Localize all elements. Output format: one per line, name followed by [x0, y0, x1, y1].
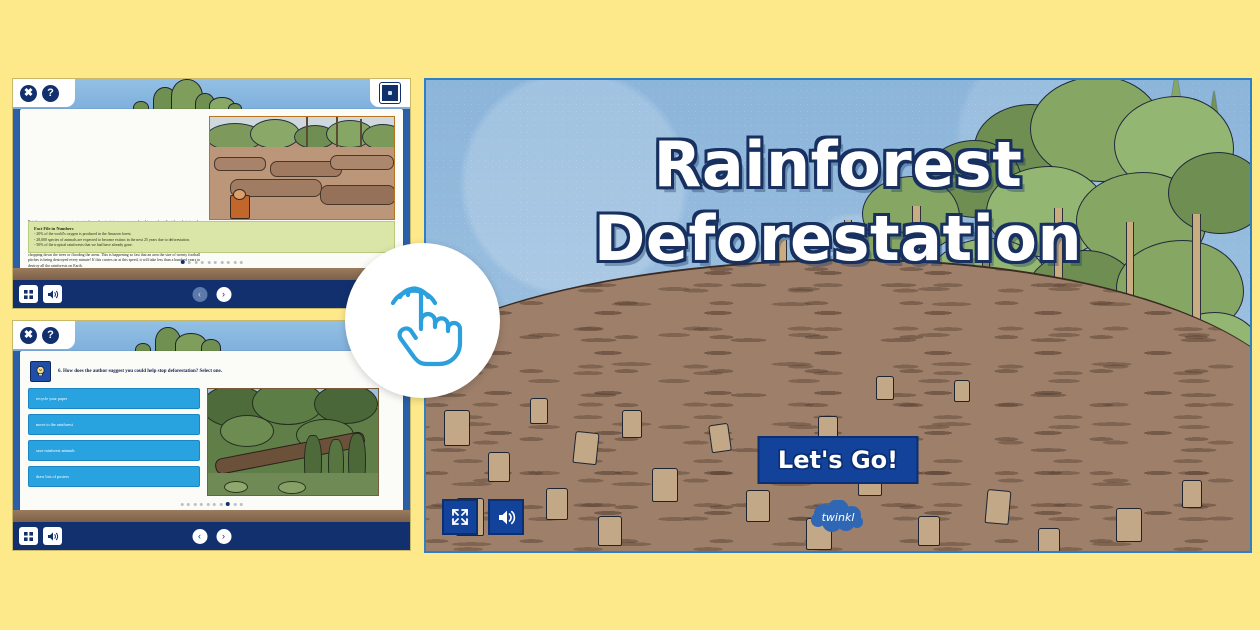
article-content: Rainforests are a very important part of… — [20, 109, 403, 269]
quiz-question-row: 6. How does the author suggest you could… — [30, 361, 395, 382]
article-pagination-dots[interactable] — [180, 260, 243, 264]
lets-go-button-label: Let's Go! — [778, 446, 898, 474]
quiz-pagination-dots[interactable] — [180, 502, 243, 506]
quiz-option[interactable]: move to the rainforest — [28, 414, 200, 435]
fact-file-box: Fact File in Numbers - 20% of the world'… — [28, 221, 395, 253]
twinkl-logo: twinkl — [806, 500, 870, 534]
deforestation-image — [209, 116, 395, 220]
fact-file-item: - 50% of the tropical rainforests that w… — [34, 243, 389, 248]
slide-settings-button[interactable] — [370, 79, 410, 107]
lets-go-button[interactable]: Let's Go! — [758, 436, 919, 484]
fact-file-title: Fact File in Numbers — [34, 226, 389, 231]
twinkl-wordmark: twinkl — [822, 511, 855, 524]
slide-ground-strip — [13, 268, 410, 280]
grid-view-icon[interactable] — [19, 285, 38, 303]
close-icon[interactable]: ✖ — [20, 85, 37, 102]
main-title-slide[interactable]: Rainforest Deforestation Let's Go! twink… — [424, 78, 1252, 553]
grid-view-icon[interactable] — [19, 527, 38, 545]
next-slide-button[interactable]: › — [216, 287, 231, 302]
screen: ✖ ? — [0, 0, 1260, 630]
tap-cursor-overlay — [345, 243, 500, 398]
help-icon[interactable]: ? — [42, 327, 59, 344]
help-icon[interactable]: ? — [42, 85, 59, 102]
quiz-content: 6. How does the author suggest you could… — [20, 351, 403, 511]
quiz-options-list: recycle your paper move to the rainfores… — [28, 388, 200, 496]
speaker-icon[interactable] — [43, 285, 62, 303]
lightbulb-icon — [30, 361, 51, 382]
quiz-option[interactable]: save rainforest animals — [28, 440, 200, 461]
quiz-slide-panel[interactable]: ✖ ? 6. How does the author suggest you c… — [12, 320, 411, 551]
prev-slide-button[interactable]: ‹ — [192, 529, 207, 544]
slide-window-controls: ✖ ? — [13, 79, 75, 107]
prev-slide-button[interactable]: ‹ — [192, 287, 207, 302]
slide-ground-strip — [13, 510, 410, 522]
article-slide-panel[interactable]: ✖ ? — [12, 78, 411, 309]
next-slide-button[interactable]: › — [216, 529, 231, 544]
article-nav-arrows: ‹ › — [192, 287, 231, 302]
settings-square-icon — [380, 83, 400, 103]
quiz-option[interactable]: recycle your paper — [28, 388, 200, 409]
main-slide-controls — [442, 499, 524, 535]
tap-hand-cursor-icon — [375, 271, 471, 371]
speaker-icon[interactable] — [43, 527, 62, 545]
speaker-icon[interactable] — [488, 499, 524, 535]
quiz-option[interactable]: draw lots of posters — [28, 466, 200, 487]
rainforest-canopy-image — [207, 388, 379, 496]
close-icon[interactable]: ✖ — [20, 327, 37, 344]
quiz-toolbar: ‹ › — [13, 522, 410, 550]
slide-window-controls: ✖ ? — [13, 321, 75, 349]
quiz-nav-arrows: ‹ › — [192, 529, 231, 544]
fullscreen-icon[interactable] — [442, 499, 478, 535]
quiz-question-text: 6. How does the author suggest you could… — [58, 369, 222, 374]
